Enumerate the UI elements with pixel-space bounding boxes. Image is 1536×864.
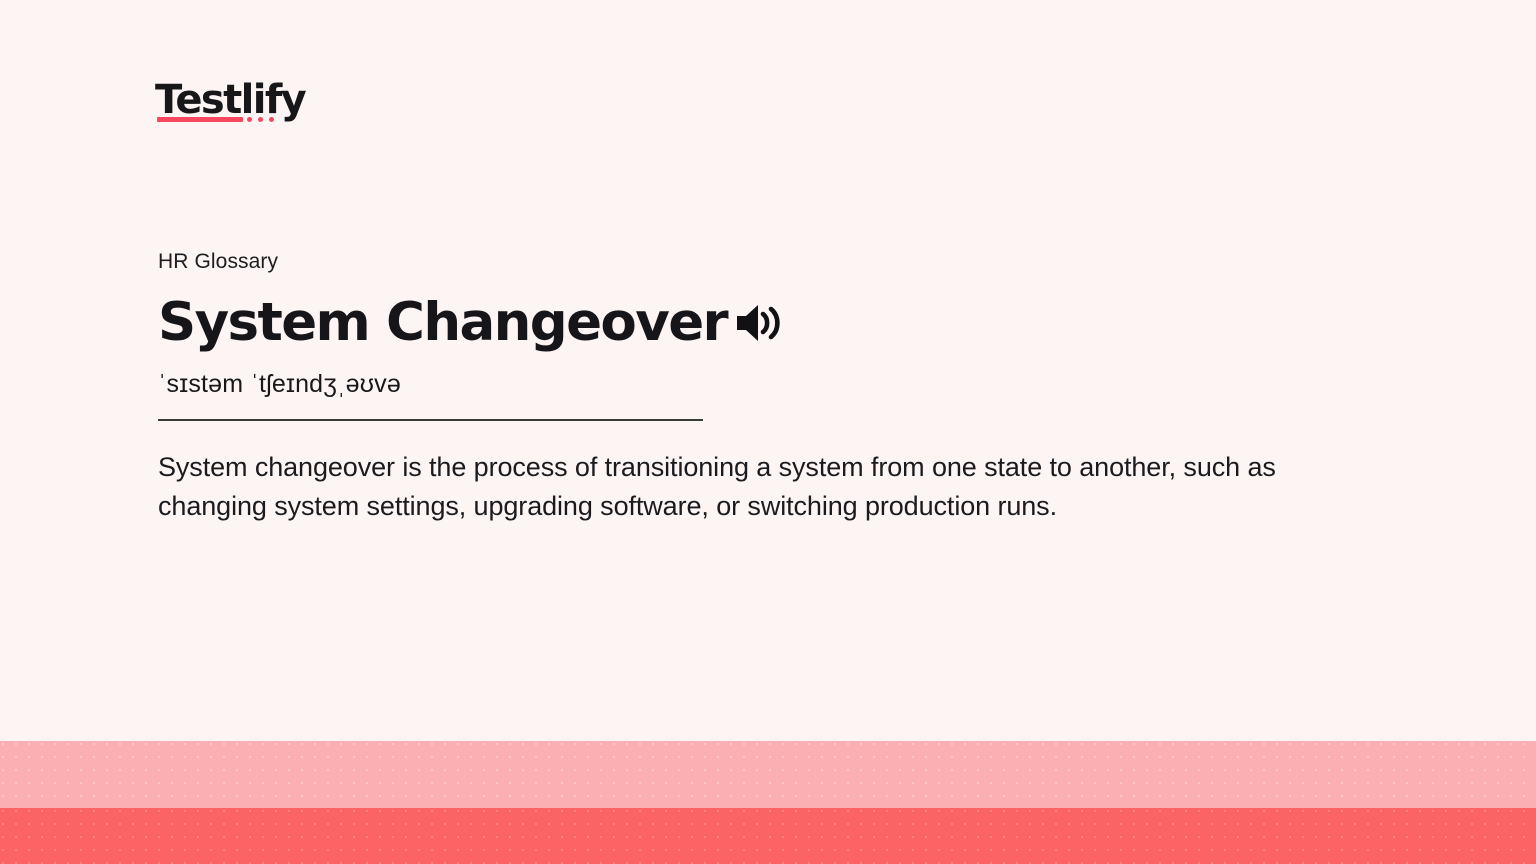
footer-band-light	[0, 741, 1536, 808]
section-divider	[158, 419, 703, 421]
breadcrumb-hr-glossary: HR Glossary	[158, 247, 1398, 277]
title-row: System Changeover	[158, 291, 1398, 355]
logo-dots	[247, 117, 274, 122]
testlify-logo[interactable]: Testlify	[155, 78, 355, 128]
logo-dot	[247, 117, 252, 122]
logo-dot	[258, 117, 263, 122]
page-title: System Changeover	[158, 291, 727, 355]
speaker-icon[interactable]	[733, 301, 781, 345]
logo-underline	[157, 117, 243, 122]
definition-text: System changeover is the process of tran…	[158, 448, 1388, 526]
footer-band-dark	[0, 808, 1536, 864]
glossary-entry: HR Glossary System Changeover ˈsɪstəm ˈt…	[158, 247, 1398, 526]
logo-dot	[269, 117, 274, 122]
phonetic-transcription: ˈsɪstəm ˈtʃeɪndʒˌəʊvə	[158, 367, 1398, 401]
logo-wordmark: Testlify	[155, 78, 355, 122]
